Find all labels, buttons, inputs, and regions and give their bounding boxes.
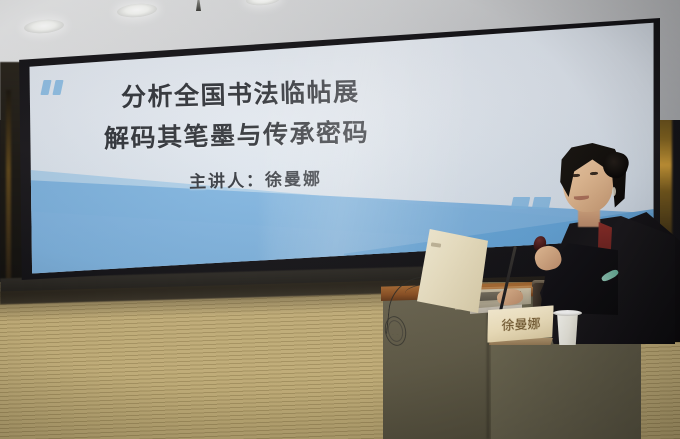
paper-cup-rim bbox=[553, 310, 582, 316]
nameplate-text: 徐曼娜 bbox=[496, 313, 546, 335]
photo-canvas: 分析全国书法临帖展 解码其笔墨与传承密码 主讲人：徐曼娜 bbox=[0, 0, 680, 439]
left-wall-trim bbox=[6, 90, 11, 290]
speaker-earring bbox=[612, 187, 616, 196]
laptop-lid bbox=[417, 229, 488, 313]
